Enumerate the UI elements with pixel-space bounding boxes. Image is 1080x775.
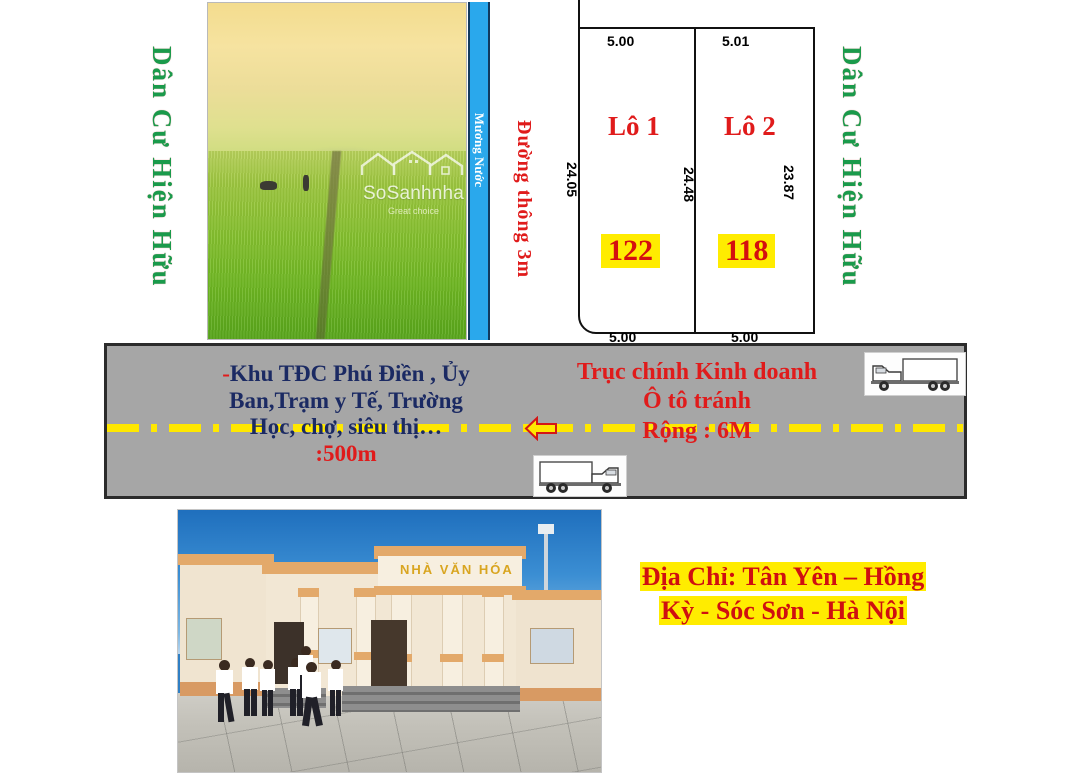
lot2-right-depth: 23.87 bbox=[781, 165, 797, 200]
column-capital bbox=[440, 586, 463, 595]
person-figure bbox=[303, 175, 309, 191]
left-window bbox=[186, 618, 222, 660]
cow-figure bbox=[260, 181, 277, 190]
amenities-dash: - bbox=[222, 361, 230, 386]
amenities-line3: Học, chợ, siêu thị… bbox=[196, 414, 496, 441]
lot1-left-depth: 24.05 bbox=[564, 162, 580, 197]
person-figure bbox=[214, 660, 236, 722]
rice-field-photo bbox=[207, 2, 467, 340]
address-line2-wrap: Kỳ - Sóc Sơn - Hà Nội bbox=[608, 594, 958, 628]
lot2-top-width: 5.01 bbox=[722, 33, 749, 49]
lot1-top-width: 5.00 bbox=[607, 33, 634, 49]
right-window bbox=[530, 628, 574, 664]
lot1-name: Lô 1 bbox=[608, 111, 660, 142]
person-figure bbox=[258, 660, 278, 716]
column-capital bbox=[482, 588, 504, 597]
column bbox=[484, 592, 504, 700]
column-capital bbox=[354, 588, 376, 597]
truck-icon bbox=[864, 352, 966, 396]
address-line1-wrap: Địa Chỉ: Tân Yên – Hồng bbox=[608, 560, 958, 594]
main-road-line2: Ô tô tránh bbox=[532, 387, 862, 416]
lot2-area: 118 bbox=[718, 234, 775, 268]
column bbox=[442, 590, 463, 700]
amenities-line2: Ban,Trạm y Tế, Trường bbox=[196, 388, 496, 415]
canal-label: Mương Nước bbox=[471, 113, 487, 187]
hall-window bbox=[318, 628, 352, 664]
left-arrow-icon bbox=[524, 416, 558, 441]
lot2-left-depth: 24.48 bbox=[681, 167, 697, 202]
column-capital bbox=[389, 586, 412, 595]
column-capital bbox=[298, 588, 319, 597]
lot2-name: Lô 2 bbox=[724, 111, 776, 142]
column-ring bbox=[482, 654, 504, 662]
entrance-door bbox=[371, 620, 407, 686]
main-road-text: Trục chính Kinh doanh Ô tô tránh Rộng : … bbox=[532, 358, 862, 446]
address-block: Địa Chỉ: Tân Yên – Hồng Kỳ - Sóc Sơn - H… bbox=[608, 560, 958, 628]
column-ring bbox=[440, 654, 463, 662]
side-road-label: Đường thông 3m bbox=[512, 120, 535, 278]
address-line1: Địa Chỉ: Tân Yên – Hồng bbox=[640, 562, 926, 591]
amenities-text: -Khu TĐC Phú Điền , Ủy Ban,Trạm y Tế, Tr… bbox=[196, 361, 496, 468]
culture-house-photo: NHÀ VĂN HÓA bbox=[177, 509, 602, 773]
main-road-line1: Trục chính Kinh doanh bbox=[532, 358, 862, 387]
truck-icon bbox=[533, 455, 627, 497]
person-figure bbox=[300, 662, 324, 726]
plot-boundary-stub bbox=[578, 0, 580, 29]
entrance-steps bbox=[342, 686, 520, 712]
building-sign: NHÀ VĂN HÓA bbox=[400, 562, 514, 577]
canal-label-wrap: Mương Nước bbox=[468, 2, 490, 340]
right-neighbors-label: Dân Cư Hiện Hữu bbox=[836, 46, 867, 288]
amenities-distance: :500m bbox=[196, 441, 496, 468]
antenna-box bbox=[538, 524, 554, 534]
left-wing-roof bbox=[178, 554, 274, 565]
left-neighbors-label: Dân Cư Hiện Hữu bbox=[146, 46, 177, 288]
main-road-line3: Rộng : 6M bbox=[532, 417, 862, 446]
amenities-line1-text: Khu TĐC Phú Điền , Ủy bbox=[230, 361, 470, 386]
lot1-area: 122 bbox=[601, 234, 660, 268]
right-wing-base bbox=[516, 688, 602, 701]
address-line2: Kỳ - Sóc Sơn - Hà Nội bbox=[659, 596, 907, 625]
person-figure bbox=[326, 660, 346, 716]
right-wing-roof bbox=[512, 590, 602, 600]
amenities-line1: -Khu TĐC Phú Điền , Ủy bbox=[196, 361, 496, 388]
